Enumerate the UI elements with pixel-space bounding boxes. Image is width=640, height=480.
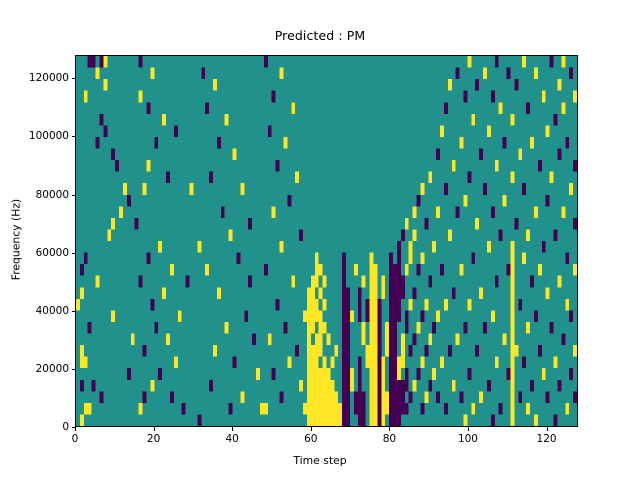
y-tick-label: 120000 xyxy=(29,72,69,84)
x-tick-mark xyxy=(311,427,312,431)
x-tick-label: 40 xyxy=(226,433,239,445)
y-tick-mark xyxy=(72,253,76,254)
y-tick-mark xyxy=(72,369,76,370)
y-tick-mark xyxy=(72,311,76,312)
y-tick-label: 0 xyxy=(62,421,69,433)
matplotlib-figure: Predicted : PM 0200004000060000800001000… xyxy=(0,0,640,480)
y-tick-mark xyxy=(72,136,76,137)
x-tick-mark xyxy=(389,427,390,431)
x-tick-mark xyxy=(468,427,469,431)
y-tick-mark xyxy=(72,195,76,196)
x-tick-label: 80 xyxy=(383,433,396,445)
x-tick-mark xyxy=(154,427,155,431)
y-tick-label: 20000 xyxy=(36,363,69,375)
x-tick-label: 60 xyxy=(304,433,317,445)
x-tick-mark xyxy=(547,427,548,431)
y-tick-label: 100000 xyxy=(29,130,69,142)
x-tick-label: 100 xyxy=(458,433,478,445)
y-tick-mark xyxy=(72,78,76,79)
x-tick-mark xyxy=(75,427,76,431)
y-tick-label: 40000 xyxy=(36,305,69,317)
heatmap-axes xyxy=(75,55,578,427)
y-tick-label: 60000 xyxy=(36,247,69,259)
y-axis-label: Frequency (Hz) xyxy=(10,180,23,300)
y-tick-label: 80000 xyxy=(36,189,69,201)
x-axis-label: Time step xyxy=(0,454,640,467)
x-tick-label: 120 xyxy=(537,433,557,445)
chart-title: Predicted : PM xyxy=(0,28,640,43)
x-tick-label: 20 xyxy=(147,433,160,445)
x-tick-label: 0 xyxy=(72,433,79,445)
x-tick-mark xyxy=(232,427,233,431)
heatmap-image xyxy=(76,56,577,426)
